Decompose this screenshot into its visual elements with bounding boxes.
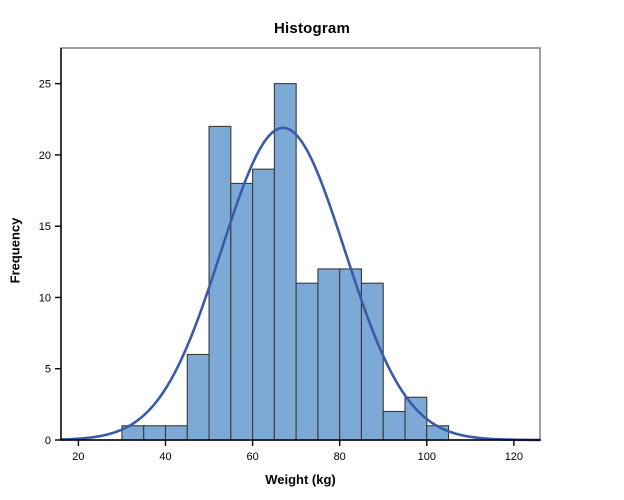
x-tick-label: 60 xyxy=(246,451,258,463)
x-axis-ticks: 20406080100120 xyxy=(72,440,523,463)
plot-area: 20406080100120 0510152025 xyxy=(0,0,624,500)
y-tick-label: 15 xyxy=(39,221,51,233)
histogram-bar xyxy=(427,426,449,440)
y-tick-label: 25 xyxy=(39,79,51,91)
x-tick-label: 80 xyxy=(334,451,346,463)
histogram-bar xyxy=(274,84,296,440)
histogram-bar xyxy=(144,426,166,440)
y-tick-label: 10 xyxy=(39,292,51,304)
x-tick-label: 100 xyxy=(418,451,436,463)
histogram-bar xyxy=(253,169,275,440)
histogram-bar xyxy=(318,269,340,440)
x-tick-label: 40 xyxy=(159,451,171,463)
x-tick-label: 20 xyxy=(72,451,84,463)
histogram-bar xyxy=(209,126,231,440)
y-tick-label: 0 xyxy=(45,435,51,447)
histogram-chart: Histogram Frequency Weight (kg) 20406080… xyxy=(0,0,624,500)
histogram-bar xyxy=(231,183,253,440)
y-tick-label: 20 xyxy=(39,150,51,162)
histogram-bar xyxy=(187,354,209,440)
y-tick-label: 5 xyxy=(45,364,51,376)
x-tick-label: 120 xyxy=(505,451,523,463)
histogram-bar xyxy=(383,411,405,440)
histogram-bar xyxy=(296,283,318,440)
y-axis-ticks: 0510152025 xyxy=(39,79,61,447)
histogram-bar xyxy=(166,426,188,440)
histogram-bar xyxy=(405,397,427,440)
